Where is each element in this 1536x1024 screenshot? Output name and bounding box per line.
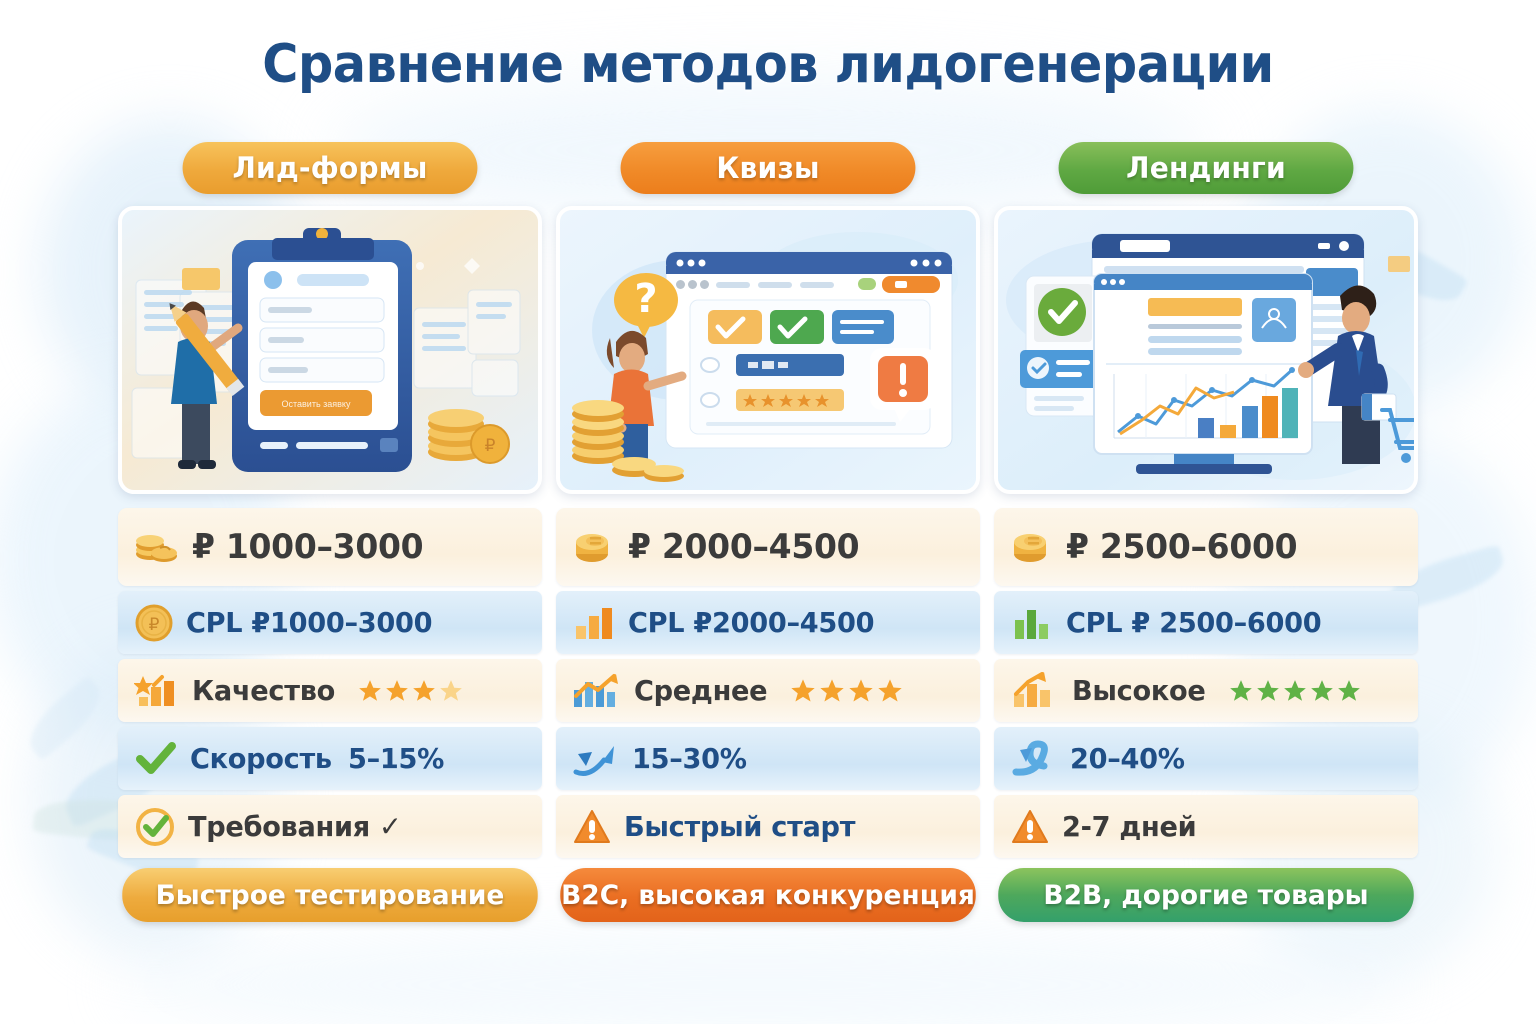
requirements-label-leadforms: Требования ✓ (188, 810, 401, 843)
quality-label-leadforms: Качество (192, 674, 335, 707)
price-text-landing: ₽ 2500–6000 (1066, 527, 1297, 567)
orange-bar-chart-icon (572, 604, 616, 642)
quality-row-quiz: Среднее (556, 659, 980, 722)
column-quiz: Квизы (556, 136, 980, 946)
warning-triangle-icon (1010, 808, 1050, 846)
quality-row-leadforms: Качество (118, 659, 542, 722)
speed-row-quiz: 15–30% (556, 727, 980, 790)
comparison-board: Лид-формы (118, 136, 1418, 946)
speed-row-leadforms: Скорость 5–15% (118, 727, 542, 790)
bar-chart-star-icon (134, 672, 180, 710)
price-row-landing: ₽ 2500–6000 (994, 508, 1418, 586)
column-header-landing[interactable]: Лендинги (1059, 142, 1354, 194)
spec-rows-landing: ₽ 2500–6000 CPL ₽ 2500–6000 (994, 508, 1418, 858)
quality-stars-leadforms (357, 678, 464, 704)
speed-value-leadforms: 5–15% (348, 742, 444, 775)
column-leadforms: Лид-формы (118, 136, 542, 946)
svg-text:₽: ₽ (149, 615, 160, 635)
quality-stars-quiz (789, 677, 904, 705)
warning-triangle-icon (572, 808, 612, 846)
coin-icon (1010, 528, 1054, 566)
ruble-coin-icon: ₽ (134, 603, 174, 643)
cpl-text-landing: CPL ₽ 2500–6000 (1066, 606, 1321, 639)
page-title: Сравнение методов лидогенерации (54, 34, 1482, 95)
column-header-quiz[interactable]: Квизы (621, 142, 916, 194)
footer-quiz[interactable]: B2C, высокая конкуренция (560, 868, 976, 922)
coin-icon (572, 528, 616, 566)
orange-bar-chart-trend-icon (1010, 672, 1060, 710)
speed-value-quiz: 15–30% (632, 742, 747, 775)
column-landing: Лендинги (994, 136, 1418, 946)
svg-text:?: ? (634, 276, 657, 322)
illustration-landing (994, 206, 1418, 494)
price-text-quiz: ₽ 2000–4500 (628, 527, 859, 567)
illustration-quiz: ? (556, 206, 980, 494)
illustration-leadforms: Оставить заявку (118, 206, 542, 494)
speed-row-landing: 20–40% (994, 727, 1418, 790)
quality-label-quiz: Среднее (634, 674, 767, 707)
spec-rows-quiz: ₽ 2000–4500 CPL ₽2000–4500 (556, 508, 980, 858)
quality-label-landing: Высокое (1072, 674, 1206, 707)
blue-swoosh-arrow-icon (1010, 740, 1058, 778)
start-row-quiz: Быстрый старт (556, 795, 980, 858)
cpl-text-leadforms: CPL ₽1000–3000 (186, 606, 432, 639)
start-label-quiz: Быстрый старт (624, 810, 855, 843)
cpl-row-landing: CPL ₽ 2500–6000 (994, 591, 1418, 654)
green-bar-chart-icon (1010, 604, 1054, 642)
timeline-row-landing: 2-7 дней (994, 795, 1418, 858)
illustration-cta-label: Оставить заявку (282, 399, 351, 409)
speed-label-leadforms: Скорость (190, 742, 332, 775)
coin-stack-icon (134, 530, 180, 564)
cpl-row-leadforms: ₽ CPL ₽1000–3000 (118, 591, 542, 654)
requirements-row-leadforms: Требования ✓ (118, 795, 542, 858)
timeline-label-landing: 2-7 дней (1062, 810, 1196, 843)
footer-landing[interactable]: B2B, дорогие товары (998, 868, 1414, 922)
quality-stars-landing (1228, 678, 1362, 704)
footer-leadforms[interactable]: Быстрое тестирование (122, 868, 538, 922)
blue-arrow-up-icon (572, 740, 620, 778)
price-text-leadforms: ₽ 1000–3000 (192, 527, 423, 567)
price-row-quiz: ₽ 2000–4500 (556, 508, 980, 586)
green-check-icon (134, 741, 178, 777)
column-header-leadforms[interactable]: Лид-формы (183, 142, 478, 194)
cpl-row-quiz: CPL ₽2000–4500 (556, 591, 980, 654)
quality-row-landing: Высокое (994, 659, 1418, 722)
price-row-leadforms: ₽ 1000–3000 (118, 508, 542, 586)
svg-text:₽: ₽ (485, 436, 496, 456)
speed-value-landing: 20–40% (1070, 742, 1185, 775)
cpl-text-quiz: CPL ₽2000–4500 (628, 606, 874, 639)
spec-rows-leadforms: ₽ 1000–3000 ₽ CPL ₽1000–3000 (118, 508, 542, 858)
circle-check-icon (134, 806, 176, 848)
blue-bar-chart-trend-icon (572, 672, 622, 710)
